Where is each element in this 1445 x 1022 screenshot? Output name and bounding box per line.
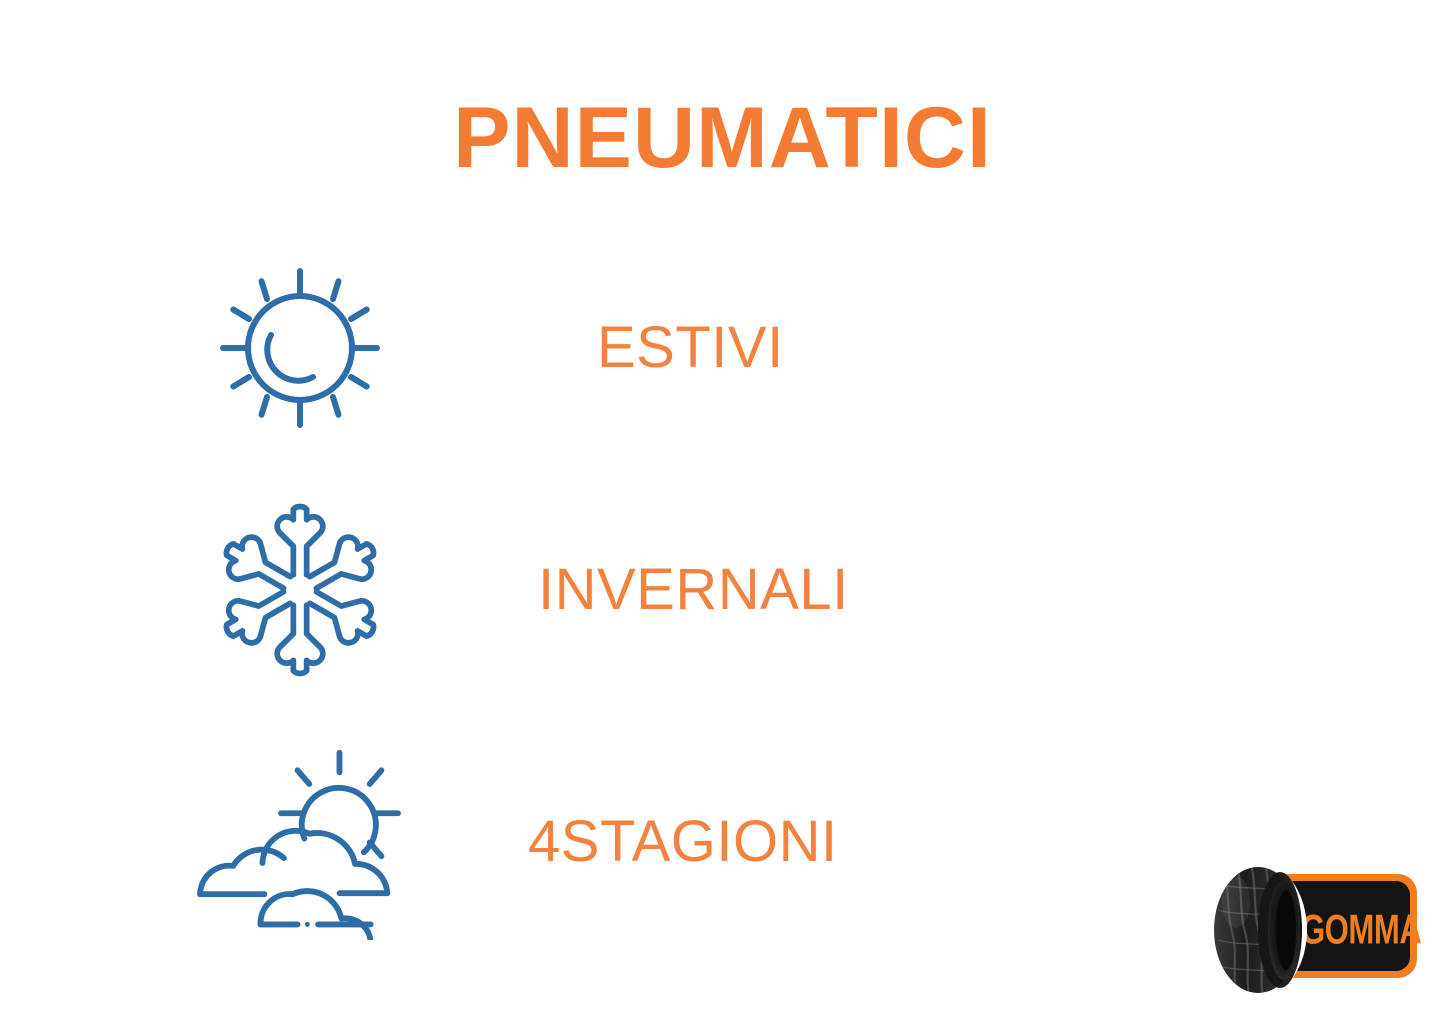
label-cell-stagioni: 4STAGIONI	[450, 813, 1010, 871]
sun-behind-clouds-icon	[150, 742, 450, 942]
tire-icon	[1209, 862, 1307, 998]
category-row-stagioni: 4STAGIONI	[150, 742, 1050, 942]
label-cell-estivi: ESTIVI	[450, 319, 1010, 377]
poster-canvas: PNEUMATICI	[0, 0, 1445, 1022]
category-label-estivi: ESTIVI	[597, 319, 784, 377]
category-row-estivi: ESTIVI	[150, 248, 1050, 448]
category-label-invernali: INVERNALI	[538, 561, 849, 619]
snowflake-icon	[150, 490, 450, 690]
category-label-stagioni: 4STAGIONI	[528, 813, 838, 871]
category-row-invernali: INVERNALI	[150, 490, 1050, 690]
sun-icon	[150, 248, 450, 448]
label-cell-invernali: INVERNALI	[450, 561, 1010, 619]
regomma-logo: REGOMMA	[1196, 862, 1424, 998]
page-title: PNEUMATICI	[0, 95, 1445, 181]
